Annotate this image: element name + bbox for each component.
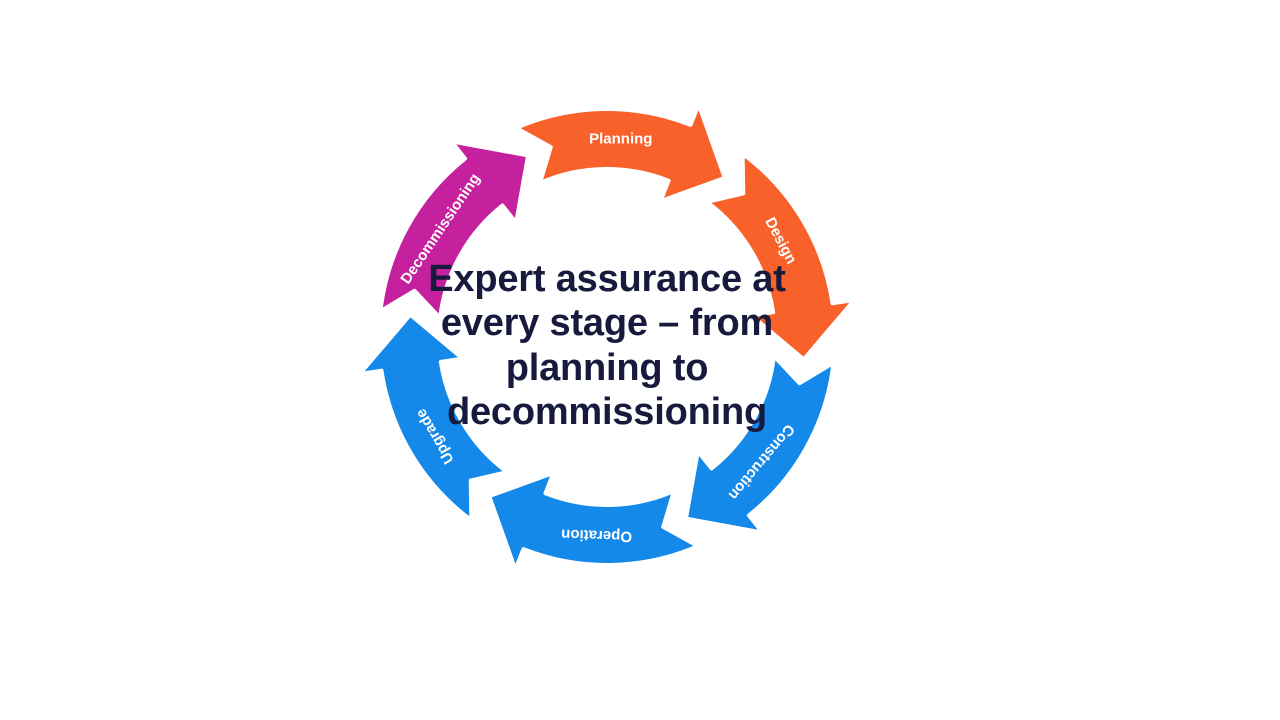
cycle-segment-planning[interactable] — [516, 104, 725, 201]
segment-label-operation: Operation — [561, 526, 632, 545]
cycle-diagram-canvas: PlanningDesignConstructionOperationUpgra… — [0, 0, 1280, 720]
cycle-segment-operation[interactable] — [489, 473, 698, 570]
center-headline: Expert assurance at every stage – from p… — [419, 257, 795, 435]
segment-label-planning: Planning — [589, 130, 652, 147]
